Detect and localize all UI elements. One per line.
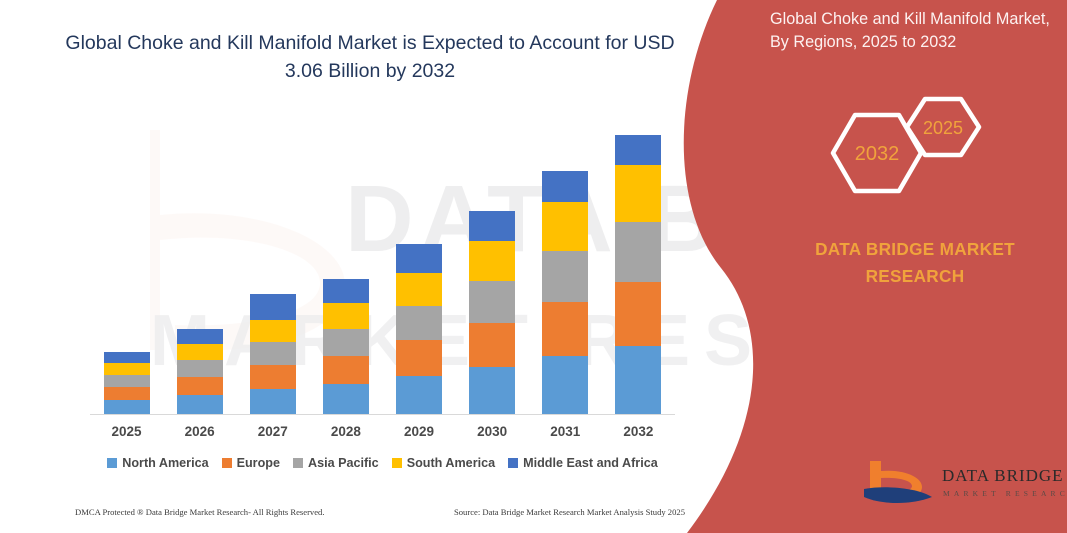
legend-item-south-america[interactable]: South America — [392, 456, 495, 470]
hexagon-2032-label: 2032 — [855, 143, 900, 165]
data-bridge-logo-icon: DATA BRIDGE MARKET RESEARCH — [860, 455, 1065, 513]
bar-segment-2030-middle-east-and-africa — [469, 211, 515, 241]
bar-segment-2025-europe — [104, 387, 150, 400]
bar-segment-2031-north-america — [542, 356, 588, 414]
bar-segment-2028-asia-pacific — [323, 329, 369, 356]
legend-item-europe[interactable]: Europe — [222, 456, 280, 470]
hexagon-year-badges: 2032 2025 — [825, 95, 1025, 210]
brand-name: DATA BRIDGE MARKET RESEARCH — [775, 236, 1055, 289]
right-panel-title: Global Choke and Kill Manifold Market, B… — [770, 8, 1055, 55]
chart-plot-area — [90, 120, 675, 415]
bar-segment-2032-asia-pacific — [615, 222, 661, 282]
infographic-root: DATA BRIDGE MARKET RESEARCH Global Choke… — [0, 0, 1067, 533]
legend-item-north-america[interactable]: North America — [107, 456, 208, 470]
legend-item-asia-pacific[interactable]: Asia Pacific — [293, 456, 379, 470]
bar-segment-2026-middle-east-and-africa — [177, 329, 223, 344]
left-chart-panel: DATA BRIDGE MARKET RESEARCH Global Choke… — [0, 0, 720, 533]
bar-segment-2027-south-america — [250, 320, 296, 342]
bar-segment-2025-middle-east-and-africa — [104, 352, 150, 363]
legend-label-europe: Europe — [237, 456, 280, 470]
x-axis-label-2028: 2028 — [311, 424, 381, 439]
bar-segment-2027-europe — [250, 365, 296, 389]
bar-segment-2027-middle-east-and-africa — [250, 294, 296, 320]
bar-segment-2030-europe — [469, 323, 515, 367]
bar-2029 — [396, 244, 442, 414]
bar-segment-2031-asia-pacific — [542, 251, 588, 302]
bar-segment-2032-north-america — [615, 346, 661, 414]
footer-source: Source: Data Bridge Market Research Mark… — [454, 507, 685, 517]
bar-segment-2029-europe — [396, 340, 442, 376]
bar-segment-2031-south-america — [542, 202, 588, 251]
bar-segment-2026-asia-pacific — [177, 360, 223, 377]
brand-name-line1: DATA BRIDGE MARKET — [775, 236, 1055, 263]
bar-segment-2025-asia-pacific — [104, 375, 150, 387]
hexagon-2025-label: 2025 — [923, 118, 963, 138]
bar-segment-2029-asia-pacific — [396, 306, 442, 340]
x-axis-label-2030: 2030 — [457, 424, 527, 439]
bar-segment-2030-north-america — [469, 367, 515, 414]
bar-2030 — [469, 211, 515, 414]
x-axis-label-2025: 2025 — [92, 424, 162, 439]
bar-segment-2029-south-america — [396, 273, 442, 306]
bar-segment-2032-south-america — [615, 165, 661, 222]
legend-swatch-south-america — [392, 458, 402, 468]
bar-segment-2027-asia-pacific — [250, 342, 296, 365]
footer-copyright: DMCA Protected ® Data Bridge Market Rese… — [75, 507, 325, 517]
bar-segment-2030-asia-pacific — [469, 281, 515, 323]
bar-2032 — [615, 135, 661, 414]
bar-2028 — [323, 279, 369, 414]
legend-swatch-middle-east-and-africa — [508, 458, 518, 468]
x-axis-label-2027: 2027 — [238, 424, 308, 439]
bar-segment-2030-south-america — [469, 241, 515, 281]
x-axis-label-2032: 2032 — [603, 424, 673, 439]
bar-segment-2028-europe — [323, 356, 369, 384]
bar-segment-2026-north-america — [177, 395, 223, 414]
page-title: Global Choke and Kill Manifold Market is… — [60, 30, 680, 85]
legend-label-asia-pacific: Asia Pacific — [308, 456, 379, 470]
bar-segment-2028-middle-east-and-africa — [323, 279, 369, 303]
bar-segment-2027-north-america — [250, 389, 296, 414]
bar-segment-2028-north-america — [323, 384, 369, 414]
bar-2027 — [250, 294, 296, 414]
legend-swatch-europe — [222, 458, 232, 468]
bar-segment-2032-europe — [615, 282, 661, 346]
bar-segment-2025-north-america — [104, 400, 150, 414]
footer: DMCA Protected ® Data Bridge Market Rese… — [75, 507, 685, 517]
legend-label-north-america: North America — [122, 456, 208, 470]
stacked-bar-chart — [90, 120, 675, 416]
bar-segment-2031-middle-east-and-africa — [542, 171, 588, 202]
bar-segment-2028-south-america — [323, 303, 369, 329]
bar-segment-2032-middle-east-and-africa — [615, 135, 661, 165]
bar-segment-2029-north-america — [396, 376, 442, 414]
bar-segment-2031-europe — [542, 302, 588, 356]
brand-name-line2: RESEARCH — [775, 263, 1055, 290]
bar-2026 — [177, 329, 223, 414]
bar-segment-2029-middle-east-and-africa — [396, 244, 442, 273]
bar-segment-2026-south-america — [177, 344, 223, 360]
chart-x-axis: 20252026202720282029203020312032 — [90, 424, 675, 444]
bar-2031 — [542, 171, 588, 414]
legend-label-middle-east-and-africa: Middle East and Africa — [523, 456, 658, 470]
logo-text-secondary: MARKET RESEARCH — [943, 489, 1065, 498]
chart-legend: North AmericaEuropeAsia PacificSouth Ame… — [90, 456, 675, 470]
x-axis-label-2026: 2026 — [165, 424, 235, 439]
bar-segment-2026-europe — [177, 377, 223, 395]
bar-2025 — [104, 352, 150, 414]
legend-label-south-america: South America — [407, 456, 495, 470]
bar-segment-2025-south-america — [104, 363, 150, 375]
x-axis-label-2031: 2031 — [530, 424, 600, 439]
legend-swatch-north-america — [107, 458, 117, 468]
logo-text-primary: DATA BRIDGE — [942, 466, 1064, 485]
x-axis-label-2029: 2029 — [384, 424, 454, 439]
legend-swatch-asia-pacific — [293, 458, 303, 468]
legend-item-middle-east-and-africa[interactable]: Middle East and Africa — [508, 456, 658, 470]
